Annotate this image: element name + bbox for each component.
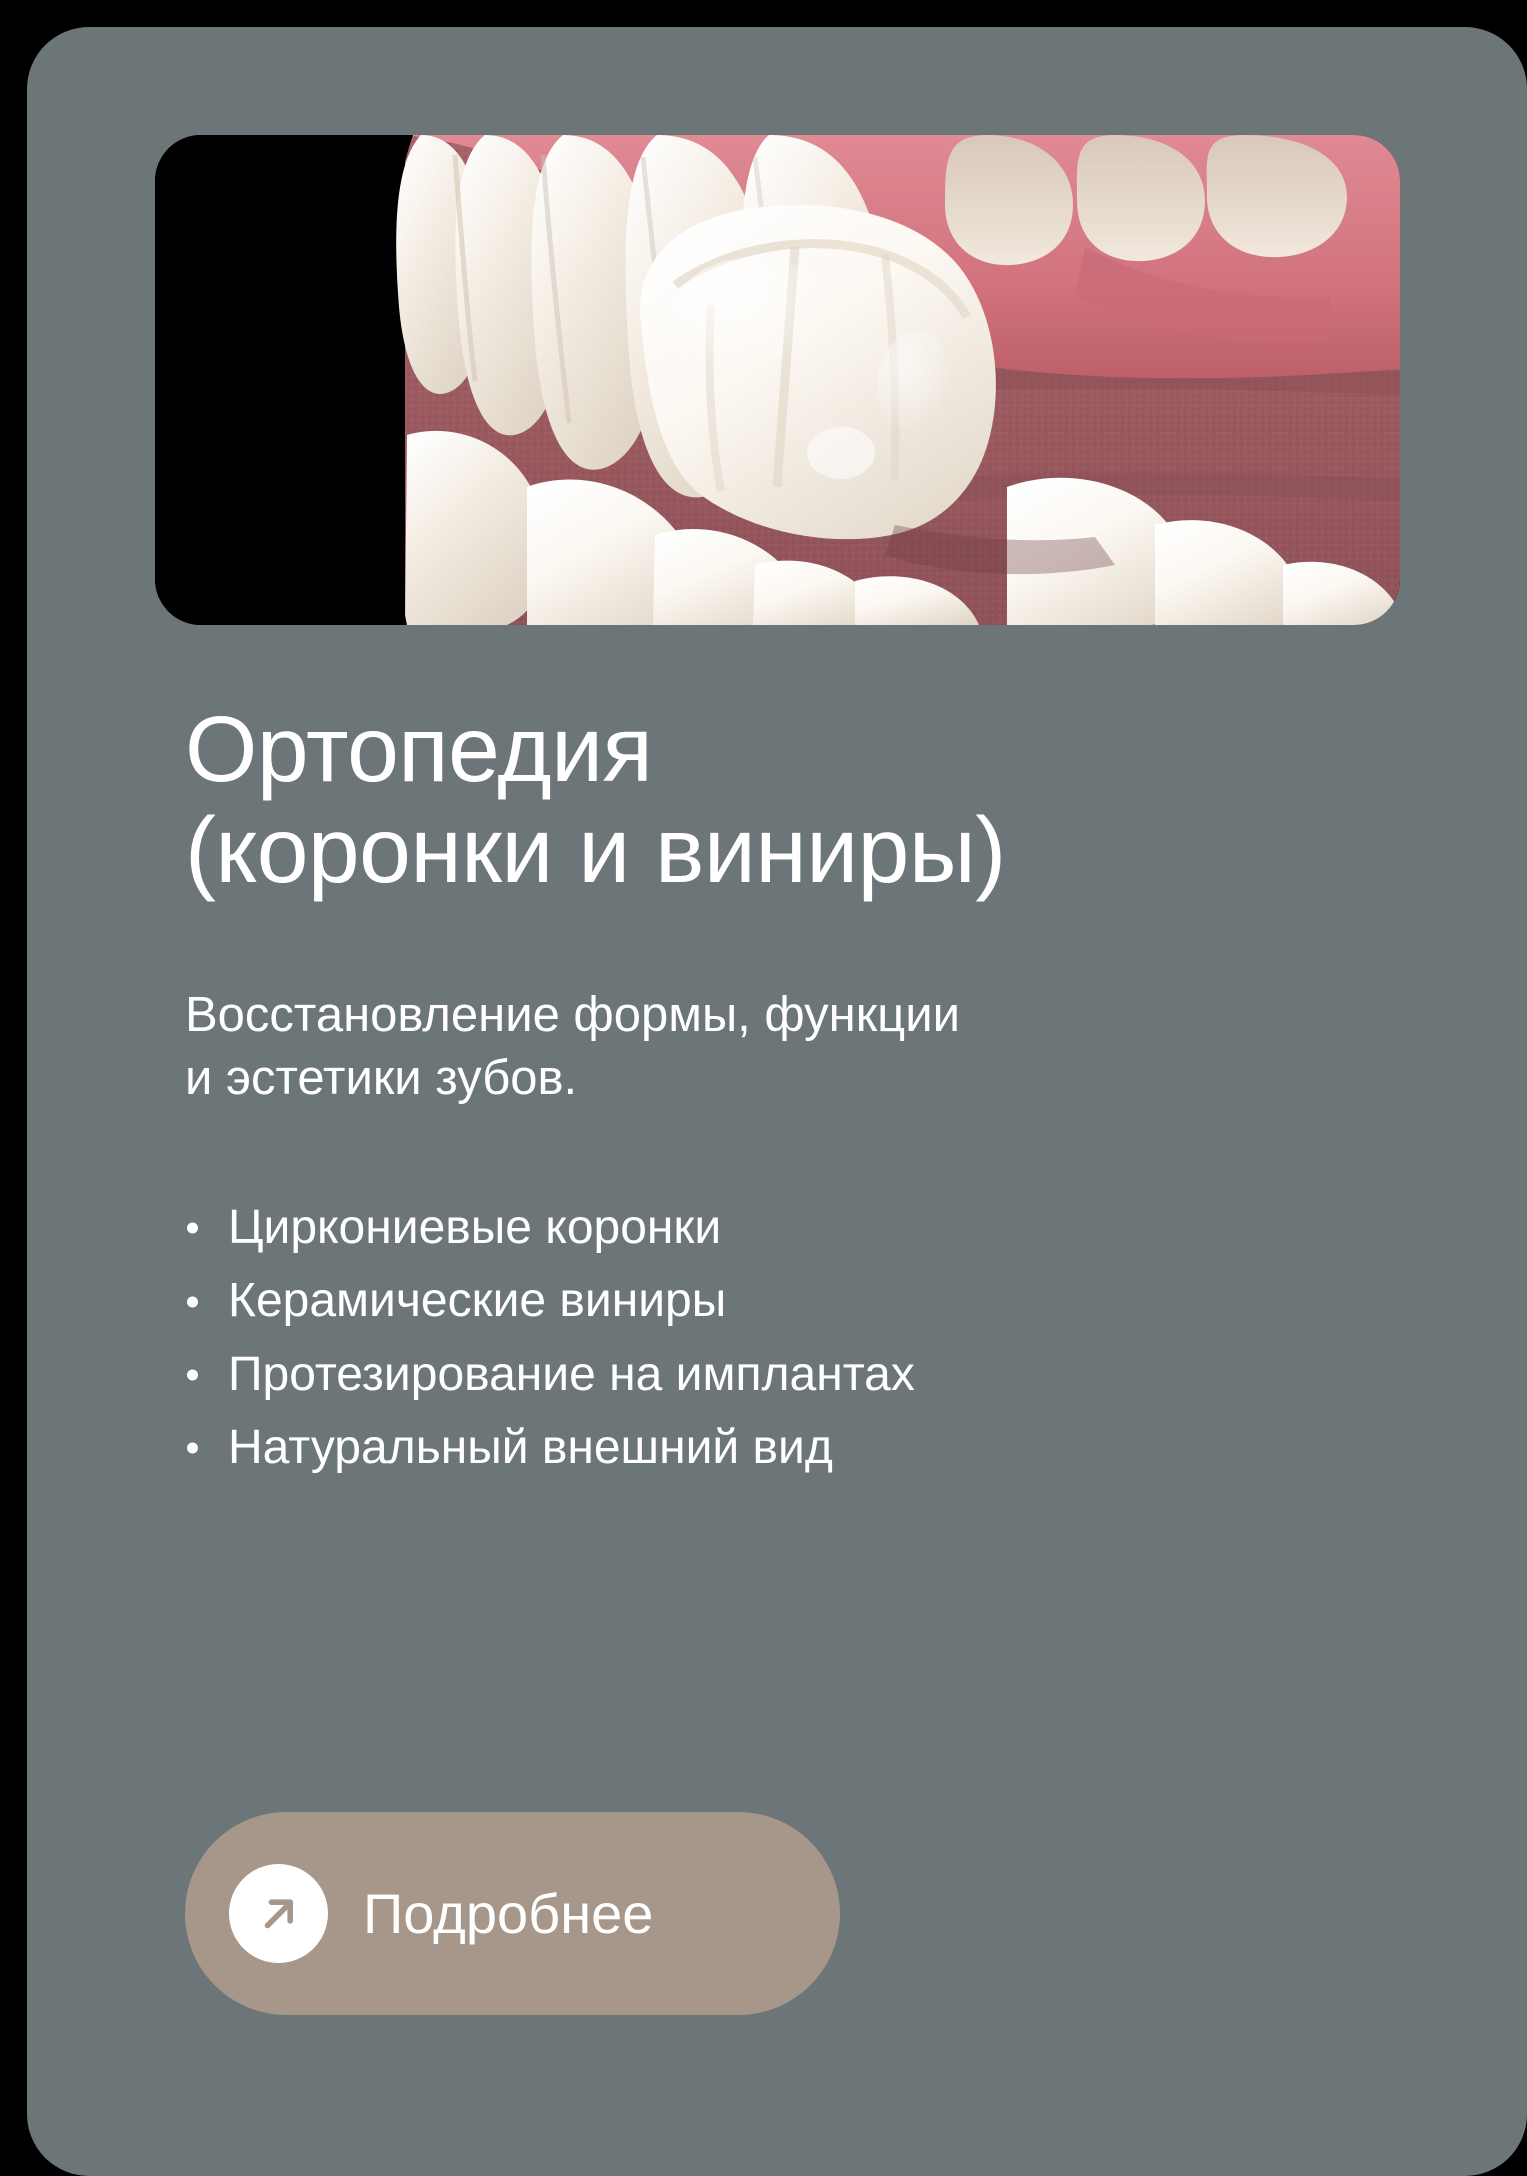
feature-list: Циркониевые коронки Керамические виниры … — [185, 1197, 1407, 1480]
card-media — [155, 135, 1400, 625]
bullet-icon — [187, 1443, 198, 1454]
list-item-label: Протезирование на имплантах — [228, 1348, 915, 1401]
card-body: Ортопедия (коронки и виниры) Восстановле… — [185, 699, 1407, 1491]
list-item: Циркониевые коронки — [185, 1197, 1407, 1259]
page-root: Ортопедия (коронки и виниры) Восстановле… — [0, 0, 1527, 2176]
arrow-up-right-icon — [229, 1864, 328, 1963]
bullet-icon — [187, 1296, 198, 1307]
learn-more-button[interactable]: Подробнее — [185, 1812, 840, 2015]
service-card: Ортопедия (коронки и виниры) Восстановле… — [27, 27, 1527, 2176]
page-title: Ортопедия (коронки и виниры) — [185, 699, 1407, 902]
list-item-label: Натуральный внешний вид — [228, 1421, 833, 1474]
bullet-icon — [187, 1370, 198, 1381]
list-item-label: Керамические виниры — [228, 1274, 726, 1327]
list-item: Протезирование на имплантах — [185, 1344, 1407, 1406]
dental-crown-illustration — [155, 135, 1400, 625]
list-item: Керамические виниры — [185, 1270, 1407, 1332]
learn-more-label: Подробнее — [363, 1886, 653, 1942]
card-description: Восстановление формы, функции и эстетики… — [185, 984, 1275, 1111]
list-item: Натуральный внешний вид — [185, 1417, 1407, 1479]
bullet-icon — [187, 1223, 198, 1234]
list-item-label: Циркониевые коронки — [228, 1201, 721, 1254]
